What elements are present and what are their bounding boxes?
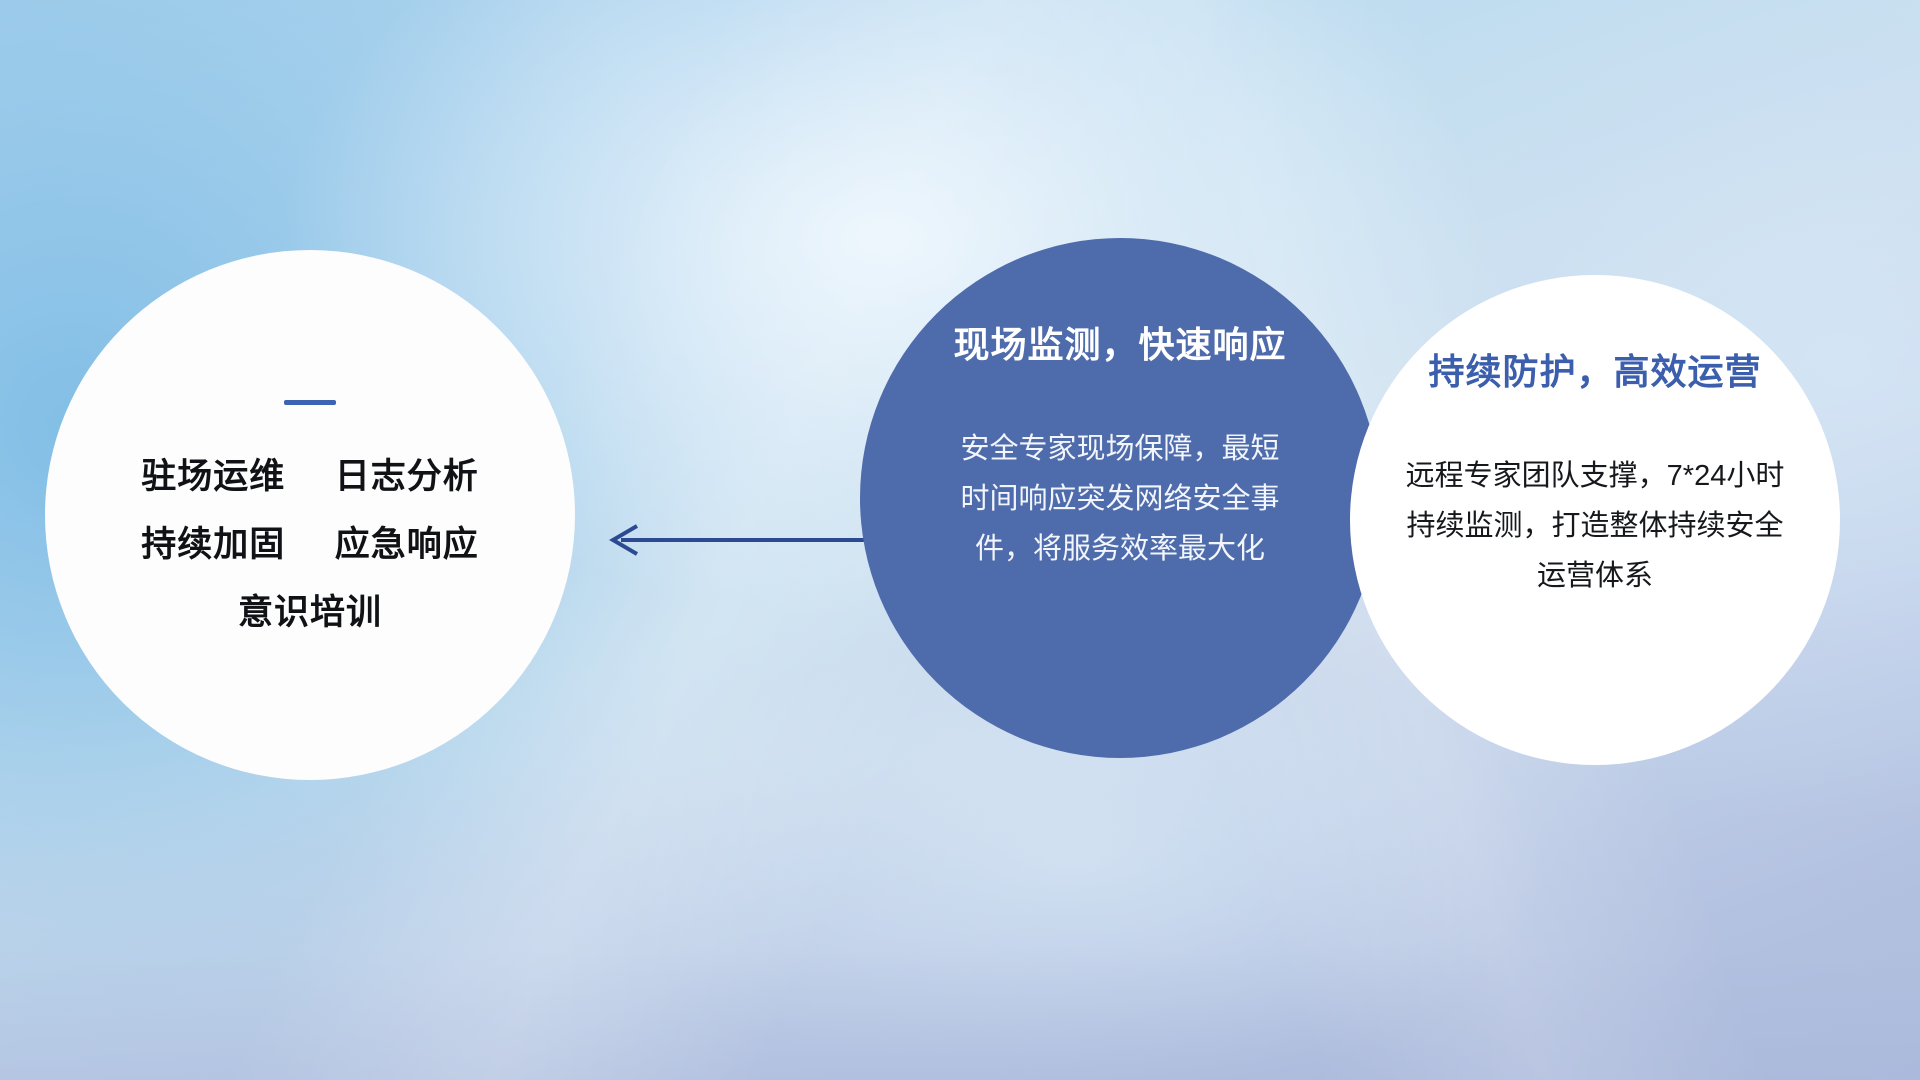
divider-dash-icon	[284, 400, 336, 405]
skills-list: 驻场运维 日志分析 持续加固 应急响应 意识培训	[45, 443, 575, 647]
continuous-protection-circle: 持续防护，高效运营 远程专家团队支撑，7*24小时持续监测，打造整体持续安全运营…	[1350, 275, 1840, 765]
slide-canvas: 驻场运维 日志分析 持续加固 应急响应 意识培训 现场监测，快速响应 安全专家现…	[0, 0, 1920, 1080]
list-item: 驻场运维 日志分析	[45, 443, 575, 511]
remote-title: 持续防护，高效运营	[1428, 343, 1761, 395]
skill-label: 日志分析	[335, 457, 479, 496]
list-item: 意识培训	[45, 579, 575, 647]
onsite-body: 安全专家现场保障，最短时间响应突发网络安全事件，将服务效率最大化	[955, 424, 1285, 574]
remote-body: 远程专家团队支撑，7*24小时持续监测，打造整体持续安全运营体系	[1395, 451, 1795, 601]
flow-arrow-left-icon	[595, 520, 875, 560]
onsite-monitoring-circle: 现场监测，快速响应 安全专家现场保障，最短时间响应突发网络安全事件，将服务效率最…	[860, 238, 1380, 758]
skill-label: 驻场运维	[141, 457, 285, 496]
skill-label: 持续加固	[141, 525, 285, 564]
skill-label: 意识培训	[238, 593, 382, 632]
skills-capability-circle: 驻场运维 日志分析 持续加固 应急响应 意识培训	[45, 250, 575, 780]
onsite-title: 现场监测，快速响应	[953, 316, 1286, 368]
list-item: 持续加固 应急响应	[45, 511, 575, 579]
skill-label: 应急响应	[335, 525, 479, 564]
